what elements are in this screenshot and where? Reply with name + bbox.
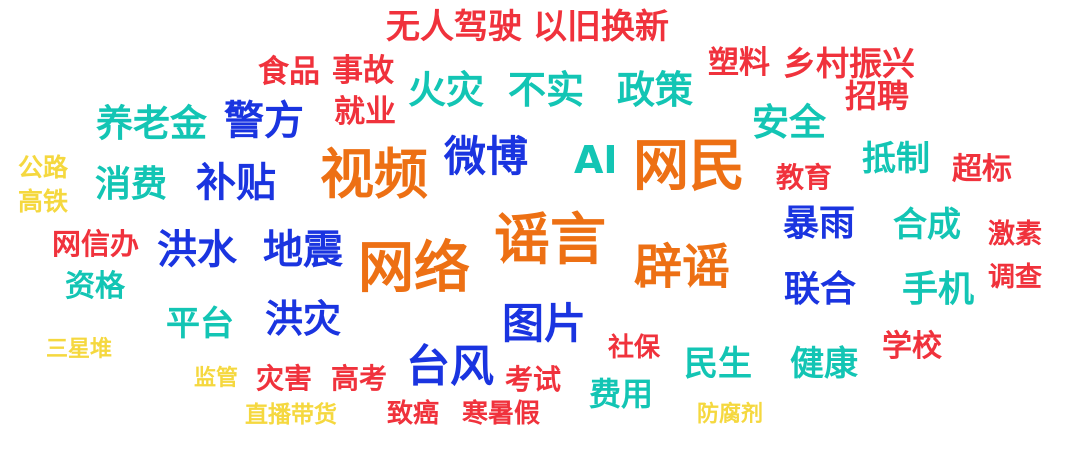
word-cloud-term[interactable]: 视频	[320, 148, 428, 202]
word-cloud-term[interactable]: 平台	[166, 307, 234, 341]
word-cloud-term[interactable]: 补贴	[196, 163, 276, 203]
word-cloud-term[interactable]: 辟谣	[634, 243, 730, 291]
word-cloud-term[interactable]: 抵制	[862, 142, 930, 176]
word-cloud-term[interactable]: 手机	[902, 272, 974, 308]
word-cloud-term[interactable]: 洪灾	[265, 300, 341, 338]
word-cloud-term[interactable]: 地震	[263, 230, 343, 270]
word-cloud-term[interactable]: 养老金	[96, 105, 207, 142]
word-cloud-term[interactable]: 台风	[406, 345, 494, 389]
word-cloud-term[interactable]: 安全	[752, 104, 826, 141]
word-cloud-term[interactable]: 洪水	[157, 230, 237, 270]
word-cloud-term[interactable]: 社保	[608, 335, 660, 361]
word-cloud-term[interactable]: 高铁	[18, 189, 68, 214]
word-cloud-term[interactable]: 灾害	[256, 365, 312, 393]
word-cloud-term[interactable]: 图片	[502, 303, 586, 345]
word-cloud-term[interactable]: 暴雨	[783, 206, 855, 242]
word-cloud-term[interactable]: 塑料	[708, 48, 770, 79]
word-cloud-term[interactable]: 民生	[684, 347, 752, 381]
word-cloud-term[interactable]: 三星堆	[46, 339, 112, 361]
word-cloud-term[interactable]: 超标	[952, 155, 1012, 185]
word-cloud-term[interactable]: 致癌	[387, 401, 439, 427]
word-cloud-term[interactable]: 谣言	[494, 213, 606, 269]
word-cloud-term[interactable]: 以旧换新	[533, 10, 669, 44]
word-cloud-term[interactable]: 网络	[358, 241, 470, 297]
word-cloud-term[interactable]: 网民	[633, 139, 745, 195]
word-cloud-term[interactable]: 无人驾驶	[386, 10, 522, 44]
word-cloud-term[interactable]: 健康	[790, 347, 858, 381]
word-cloud-term[interactable]: 政策	[617, 71, 693, 109]
word-cloud-term[interactable]: 费用	[589, 378, 653, 410]
word-cloud-term[interactable]: 火灾	[408, 71, 484, 109]
word-cloud-term[interactable]: 事故	[332, 56, 394, 87]
word-cloud-term[interactable]: 防腐剂	[697, 404, 763, 426]
word-cloud-term[interactable]: 招聘	[845, 80, 909, 112]
word-cloud-term[interactable]: 公路	[18, 155, 68, 180]
word-cloud-term[interactable]: 调查	[988, 264, 1042, 291]
word-cloud-term[interactable]: 微博	[444, 136, 528, 178]
word-cloud-term[interactable]: 考试	[505, 366, 561, 394]
word-cloud-term[interactable]: 联合	[784, 272, 856, 308]
word-cloud-term[interactable]: 警方	[224, 101, 304, 141]
word-cloud-term[interactable]: 乡村振兴	[783, 47, 915, 80]
word-cloud-term[interactable]: 监管	[194, 368, 238, 390]
word-cloud-term[interactable]: 网信办	[52, 230, 139, 259]
word-cloud-term[interactable]: 高考	[331, 365, 387, 393]
word-cloud-term[interactable]: AI	[574, 141, 618, 179]
word-cloud-term[interactable]: 寒暑假	[462, 401, 540, 427]
word-cloud-term[interactable]: 消费	[95, 167, 167, 203]
word-cloud-term[interactable]: 学校	[882, 332, 942, 362]
word-cloud-term[interactable]: 不实	[508, 71, 584, 109]
word-cloud-term[interactable]: 食品	[258, 57, 320, 88]
word-cloud-canvas: 无人驾驶以旧换新塑料乡村振兴食品事故火灾不实政策招聘就业养老金警方安全微博AI网…	[0, 0, 1066, 465]
word-cloud-term[interactable]: 直播带货	[245, 404, 337, 427]
word-cloud-term[interactable]: 就业	[334, 97, 396, 128]
word-cloud-term[interactable]: 合成	[893, 208, 961, 242]
word-cloud-term[interactable]: 激素	[988, 221, 1042, 248]
word-cloud-term[interactable]: 资格	[65, 272, 125, 302]
word-cloud-term[interactable]: 教育	[776, 164, 832, 192]
